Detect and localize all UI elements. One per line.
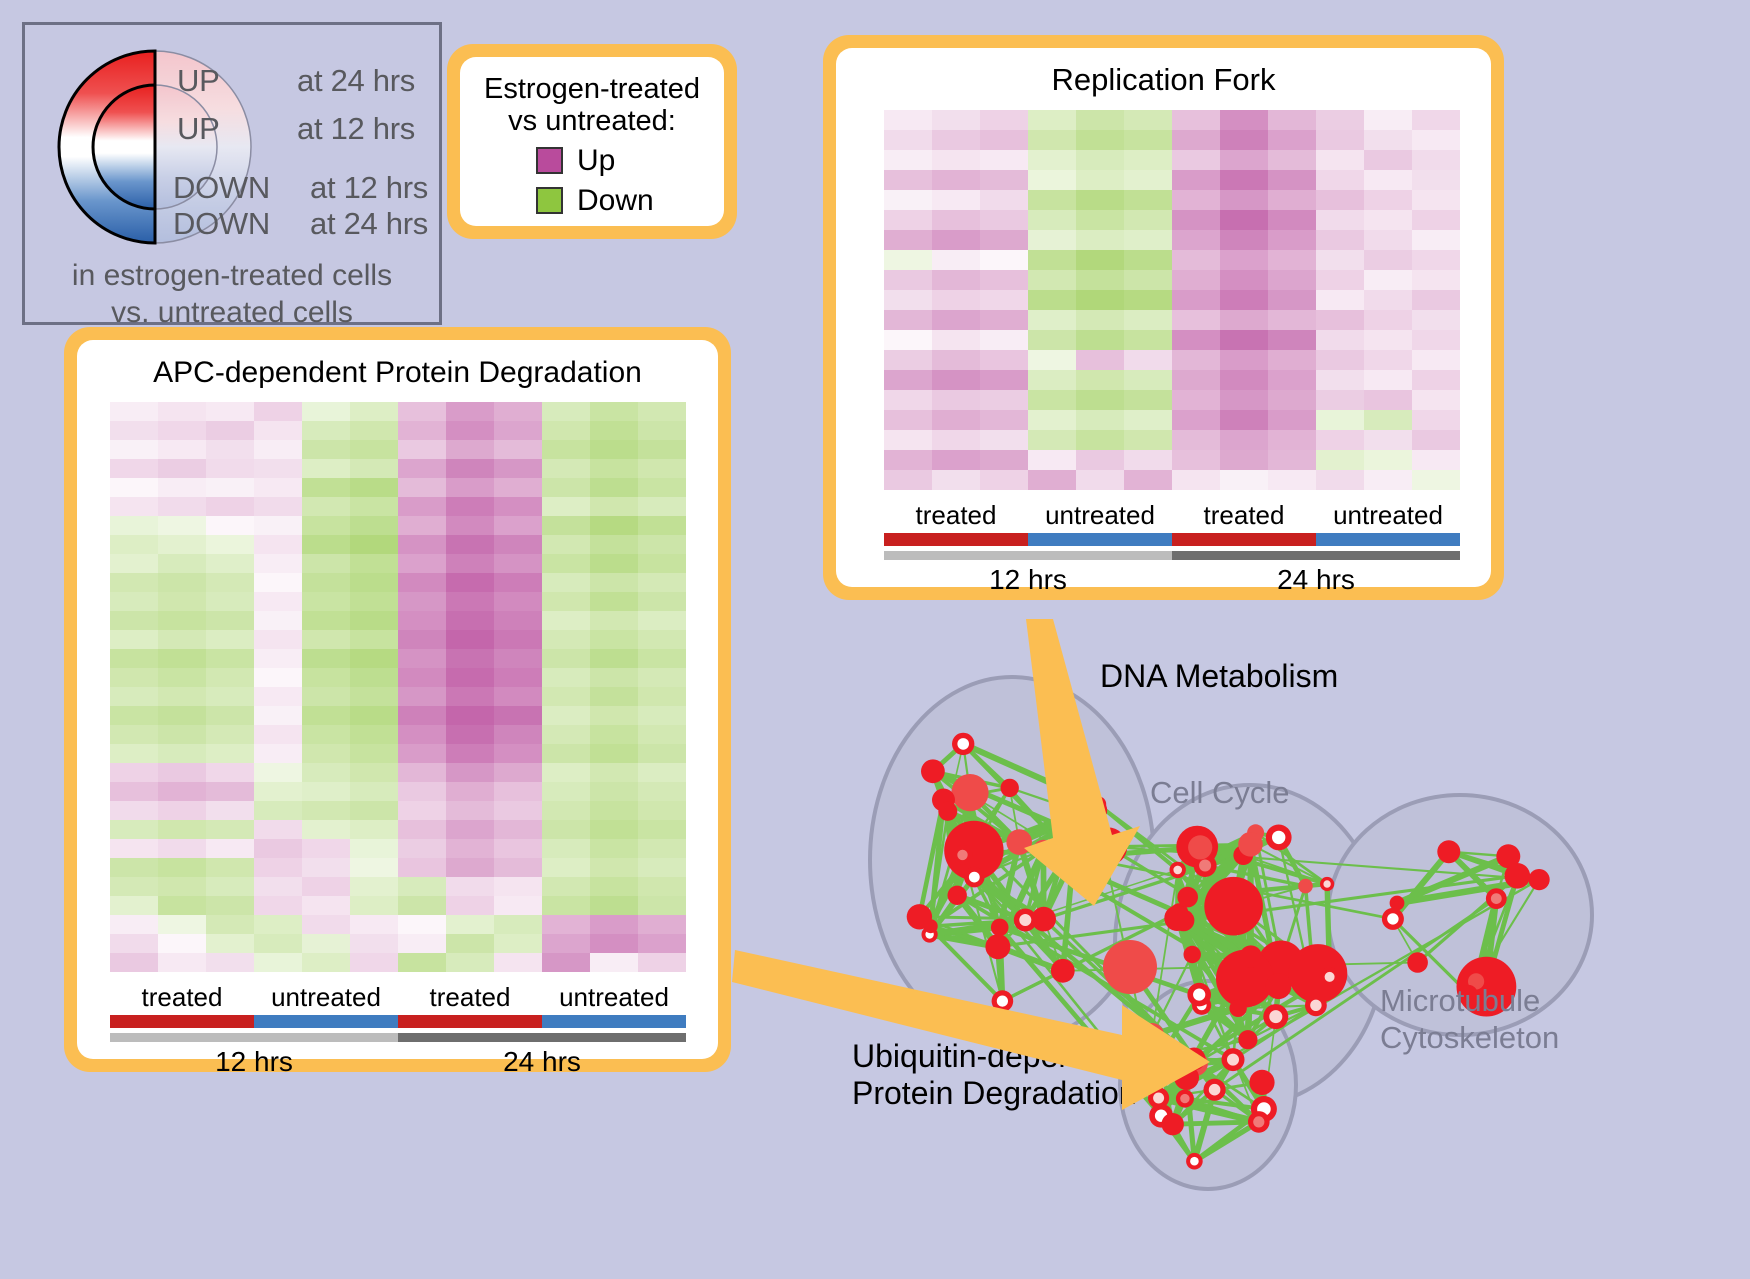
heatmap-cell [1364,390,1412,410]
heatmap-cell [1028,430,1076,450]
network-node [1240,945,1262,967]
heatmap-cell [302,649,350,668]
heatmap-cell [1412,290,1460,310]
heatmap-cell [980,270,1028,290]
heatmap-cell [542,554,590,573]
heatmap-cell [1316,250,1364,270]
network-node-core [1019,914,1031,926]
heatmap-cell [932,170,980,190]
heatmap-cell [884,410,932,430]
heatmap-cell [1076,410,1124,430]
heatmap-cell [638,934,686,953]
network-node [948,886,967,905]
heatmap-cell [254,725,302,744]
heatmap-cell [932,150,980,170]
heatmap-cell [158,839,206,858]
network-diagram: DNA Metabolism Cell Cycle Microtubule Cy… [800,615,1750,1279]
color-key-caption: in estrogen-treated cells vs. untreated … [25,258,439,331]
figure-canvas: UP at 24 hrs UP at 12 hrs DOWN at 12 hrs… [0,0,1750,1279]
heatmap-cell [302,459,350,478]
heatmap-cell [542,592,590,611]
heatmap-cell [932,430,980,450]
heatmap-cell [1124,170,1172,190]
heatmap-cell [1076,130,1124,150]
heatmap-cell [494,421,542,440]
heatmap-cell [350,649,398,668]
heatmap-cell [542,839,590,858]
legend-title-line1: Estrogen-treated [460,73,724,105]
heatmap-cell [1268,190,1316,210]
heatmap-cell [980,450,1028,470]
heatmap-cell [884,330,932,350]
heatmap-cell [1220,190,1268,210]
heatmap-cell [206,915,254,934]
heatmap-cell [494,687,542,706]
heatmap-cell [1028,210,1076,230]
heatmap-cell [398,554,446,573]
heatmap-cell [110,573,158,592]
heatmap-cell [254,516,302,535]
heatmap-cell [110,687,158,706]
heatmap-cell [542,668,590,687]
heatmap-cell [302,725,350,744]
heatmap-cell [446,611,494,630]
heatmap-cell [932,250,980,270]
cluster-label-dna-metabolism: DNA Metabolism [1100,658,1338,695]
heatmap-cell [446,953,494,972]
heatmap-cell [110,630,158,649]
heatmap-cell [884,150,932,170]
heatmap-cell [254,820,302,839]
heatmap-cell [638,630,686,649]
heatmap-cell [158,934,206,953]
heatmap-cell [206,744,254,763]
heatmap-cell [158,725,206,744]
network-node-core [1269,1010,1282,1023]
heatmap-cell [254,497,302,516]
heatmap-cell [398,801,446,820]
heatmap-cell [1076,170,1124,190]
heatmap-cell [158,877,206,896]
heatmap-cell [590,478,638,497]
heatmap-cell [1124,290,1172,310]
heatmap-cell [494,915,542,934]
heatmap-cell [1028,170,1076,190]
heatmap-cell [1412,370,1460,390]
heatmap-cell [1172,270,1220,290]
color-key-caption-line2: vs. untreated cells [25,295,439,332]
network-node [1033,840,1054,861]
network-node-core [1325,972,1335,982]
network-node [1103,940,1157,994]
heatmap-cell [302,497,350,516]
heatmap-cell [254,592,302,611]
network-node [991,919,1009,937]
heatmap-cell [932,450,980,470]
heatmap-cell [1028,370,1076,390]
heatmap-cell [638,858,686,877]
heatmap-cell [590,687,638,706]
network-node [1249,1070,1274,1095]
heatmap-cell [638,915,686,934]
heatmap-cell [1028,230,1076,250]
heatmap-cell [590,725,638,744]
heatmap-cell [494,953,542,972]
heatmap-cell [110,839,158,858]
heatmap-cell [638,896,686,915]
heatmap-cell [446,782,494,801]
apc-timebar-12 [110,1033,398,1042]
heatmap-cell [638,668,686,687]
network-node [1162,1113,1184,1135]
heatmap-cell [1124,190,1172,210]
heatmap-cell [884,250,932,270]
heatmap-cell [1220,290,1268,310]
heatmap-cell [542,573,590,592]
heatmap-cell [542,763,590,782]
heatmap-cell [884,190,932,210]
heatmap-cell [110,725,158,744]
heatmap-cell [1364,470,1412,490]
heatmap-cell [302,535,350,554]
heatmap-cell [206,763,254,782]
heatmap-cell [350,440,398,459]
heatmap-cell [1364,150,1412,170]
heatmap-cell [350,915,398,934]
heatmap-cell [1172,130,1220,150]
heatmap-cell [158,402,206,421]
heatmap-cell [254,440,302,459]
heatmap-cell [158,896,206,915]
heatmap-cell [254,782,302,801]
heatmap-cell [398,630,446,649]
heatmap-cell [542,896,590,915]
heatmap-cell [398,573,446,592]
heatmap-cell [1364,310,1412,330]
heatmap-cell [158,953,206,972]
heatmap-cell [590,649,638,668]
heatmap-cell [638,402,686,421]
heatmap-cell [1172,310,1220,330]
heatmap-cell [1076,230,1124,250]
heatmap-cell [1028,410,1076,430]
heatmap-cell [446,725,494,744]
heatmap-cell [884,230,932,250]
heatmap-cell [1268,410,1316,430]
heatmap-cell [158,630,206,649]
heatmap-cell [302,573,350,592]
network-node-core [1310,1000,1321,1011]
heatmap-cell [494,839,542,858]
legend-item-up: Up [536,144,724,178]
heatmap-cell [398,459,446,478]
heatmap-cell [398,649,446,668]
heatmap-cell [590,459,638,478]
network-node [1238,832,1263,857]
heatmap-cell [1268,350,1316,370]
heatmap-cell [884,450,932,470]
rf-bar-treated-12 [884,533,1028,546]
rf-bar-untreated-12 [1028,533,1172,546]
heatmap-cell [254,839,302,858]
heatmap-cell [1412,190,1460,210]
heatmap-cell [206,706,254,725]
heatmap-cell [1220,130,1268,150]
network-graph-svg [800,615,1750,1279]
legend-swatch-up [536,147,563,174]
heatmap-cell [542,459,590,478]
rf-time-label-12: 12 hrs [884,564,1172,596]
heatmap-cell [1220,230,1268,250]
heatmap-cell [1220,450,1268,470]
heatmap-cell [1076,250,1124,270]
heatmap-cell [590,744,638,763]
heatmap-cell [542,402,590,421]
heatmap-cell [446,877,494,896]
heatmap-cell [158,763,206,782]
network-node [1164,905,1190,931]
heatmap-cell [302,592,350,611]
heatmap-cell [1172,450,1220,470]
network-node-core [1069,854,1077,862]
heatmap-cell [254,687,302,706]
heatmap-cell [1364,270,1412,290]
heatmap-cell [398,402,446,421]
heatmap-cell [1268,290,1316,310]
network-node-core [1253,1116,1264,1127]
heatmap-cell [1124,250,1172,270]
heatmap-cell [590,763,638,782]
heatmap-cell [1124,270,1172,290]
heatmap-cell [494,554,542,573]
network-node [1188,835,1212,859]
heatmap-cell [302,820,350,839]
cluster-label-ubiquitin: Ubiquitin-dependent Protein Degradation [852,1038,1138,1112]
heatmap-cell [932,310,980,330]
heatmap-cell [206,649,254,668]
heatmap-cell [1412,470,1460,490]
apc-time-bar [110,1033,686,1042]
heatmap-cell [638,725,686,744]
heatmap-cell [542,725,590,744]
heatmap-cell [884,390,932,410]
heatmap-cell [1076,430,1124,450]
heatmap-cell [590,402,638,421]
cluster-label-ubiquitin-line2: Protein Degradation [852,1075,1138,1112]
heatmap-cell [302,801,350,820]
rf-treatment-bar [884,533,1460,546]
rf-group-label-1: untreated [1028,500,1172,531]
heatmap-cell [1220,250,1268,270]
heatmap-cell [494,516,542,535]
heatmap-cell [590,573,638,592]
heatmap-cell [980,190,1028,210]
cluster-label-ubiquitin-line1: Ubiquitin-dependent [852,1038,1138,1075]
heatmap-cell [398,516,446,535]
heatmap-cell [1412,330,1460,350]
heatmap-cell [158,744,206,763]
heatmap-cell [638,763,686,782]
heatmap-cell [590,953,638,972]
heatmap-cell [350,554,398,573]
heatmap-cell [1316,310,1364,330]
heatmap-cell [590,497,638,516]
rf-time-label-24: 24 hrs [1172,564,1460,596]
heatmap-cell [1364,130,1412,150]
heatmap-cell [158,915,206,934]
heatmap-cell [1316,290,1364,310]
heatmap-cell [1028,290,1076,310]
heatmap-cell [254,858,302,877]
heatmap-cell [494,573,542,592]
apc-bar-treated-12 [110,1015,254,1028]
heatmap-cell [254,535,302,554]
heatmap-cell [158,858,206,877]
heatmap-cell [638,497,686,516]
heatmap-cell [398,858,446,877]
heatmap-cell [638,953,686,972]
heatmap-cell [158,440,206,459]
heatmap-cell [446,820,494,839]
heatmap-cell [542,687,590,706]
heatmap-cell [398,668,446,687]
apc-group-label-2: treated [398,982,542,1013]
network-node-core [1190,1157,1199,1166]
heatmap-cell [542,440,590,459]
replication-fork-title: Replication Fork [836,62,1491,98]
heatmap-cell [1172,190,1220,210]
heatmap-cell [158,668,206,687]
apc-treatment-bar [110,1015,686,1028]
network-node-core [1387,913,1398,924]
heatmap-cell [446,402,494,421]
heatmap-cell [158,421,206,440]
heatmap-cell [206,668,254,687]
heatmap-cell [1028,470,1076,490]
heatmap-cell [1028,310,1076,330]
replication-fork-panel: Replication Fork treated untreated treat… [823,35,1504,600]
heatmap-cell [542,478,590,497]
network-node [907,904,932,929]
heatmap-cell [206,440,254,459]
heatmap-cell [446,554,494,573]
heatmap-cell [110,592,158,611]
network-node [1140,1023,1164,1047]
heatmap-cell [590,516,638,535]
apc-bar-untreated-24 [542,1015,686,1028]
apc-group-label-1: untreated [254,982,398,1013]
network-node [1051,959,1075,983]
heatmap-cell [446,839,494,858]
heatmap-cell [446,592,494,611]
heatmap-cell [590,858,638,877]
heatmap-cell [1076,210,1124,230]
rf-bar-untreated-24 [1316,533,1460,546]
heatmap-cell [110,668,158,687]
heatmap-cell [254,554,302,573]
heatmap-cell [446,573,494,592]
heatmap-cell [1172,170,1220,190]
heatmap-cell [590,820,638,839]
heatmap-cell [1268,450,1316,470]
heatmap-cell [1412,430,1460,450]
heatmap-cell [590,630,638,649]
heatmap-cell [1220,310,1268,330]
heatmap-cell [398,706,446,725]
heatmap-cell [980,290,1028,310]
heatmap-cell [350,820,398,839]
heatmap-cell [494,592,542,611]
heatmap-cell [1412,450,1460,470]
heatmap-cell [494,744,542,763]
heatmap-cell [590,839,638,858]
heatmap-cell [638,516,686,535]
heatmap-cell [638,421,686,440]
rf-timebar-12 [884,551,1172,560]
heatmap-cell [1172,210,1220,230]
network-node-core [1193,989,1205,1001]
heatmap-cell [1412,350,1460,370]
heatmap-cell [1172,390,1220,410]
heatmap-cell [638,782,686,801]
heatmap-cell [1220,370,1268,390]
heatmap-cell [1268,110,1316,130]
heatmap-cell [1220,350,1268,370]
heatmap-cell [1028,450,1076,470]
heatmap-cell [1268,390,1316,410]
rf-group-label-0: treated [884,500,1028,531]
heatmap-cell [884,170,932,190]
heatmap-cell [446,535,494,554]
heatmap-cell [398,782,446,801]
heatmap-cell [206,858,254,877]
heatmap-cell [980,170,1028,190]
heatmap-cell [494,896,542,915]
heatmap-cell [542,535,590,554]
apc-group-labels: treated untreated treated untreated [110,982,686,1013]
heatmap-cell [1076,270,1124,290]
heatmap-cell [1124,430,1172,450]
heatmap-cell [1220,210,1268,230]
heatmap-cell [1412,390,1460,410]
heatmap-cell [110,706,158,725]
heatmap-cell [542,611,590,630]
heatmap-cell [1124,330,1172,350]
heatmap-cell [494,934,542,953]
heatmap-cell [542,820,590,839]
heatmap-cell [206,877,254,896]
network-node [1184,946,1201,963]
apc-time-labels: 12 hrs 24 hrs [110,1046,686,1078]
heatmap-cell [302,934,350,953]
heatmap-cell [350,573,398,592]
heatmap-cell [1076,370,1124,390]
heatmap-cell [1412,110,1460,130]
heatmap-cell [1076,290,1124,310]
heatmap-cell [206,421,254,440]
heatmap-cell [638,554,686,573]
network-node-core [957,738,969,750]
heatmap-cell [206,573,254,592]
heatmap-cell [494,668,542,687]
heatmap-cell [110,497,158,516]
heatmap-cell [110,478,158,497]
heatmap-cell [1076,190,1124,210]
heatmap-cell [254,649,302,668]
heatmap-cell [884,270,932,290]
heatmap-cell [590,611,638,630]
network-node-core [1153,1093,1164,1104]
